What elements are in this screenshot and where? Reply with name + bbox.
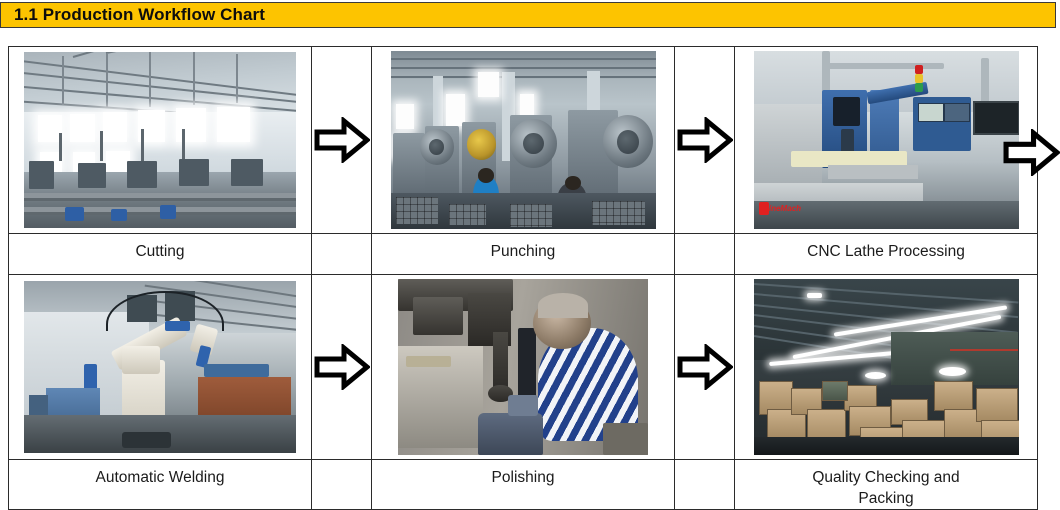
right-block-arrow-icon-4 — [677, 344, 733, 390]
photo-polishing — [398, 279, 648, 455]
right-block-arrow-icon-1 — [314, 117, 370, 163]
cell-label-punching: Punching — [372, 234, 675, 275]
cell-label-polishing: Polishing — [372, 460, 675, 510]
table-row-photos-top: FineMach — [9, 47, 1038, 234]
workflow-table: FineMach Cutting Punching — [8, 46, 1038, 510]
page-title: 1.1 Production Workflow Chart — [1, 5, 265, 25]
right-block-arrow-icon-2 — [677, 117, 733, 163]
right-block-arrow-icon-3 — [314, 344, 370, 390]
table-row-labels-bottom: Automatic Welding Polishing Quality Chec… — [9, 460, 1038, 510]
cell-arrow-3 — [312, 275, 372, 460]
cell-photo-cnc: FineMach — [735, 47, 1038, 234]
cell-label-quality: Quality Checking and Packing — [735, 460, 1038, 510]
cell-photo-polishing — [372, 275, 675, 460]
right-block-arrow-icon-5 — [1003, 129, 1060, 176]
cell-label-welding: Automatic Welding — [9, 460, 312, 510]
photo-quality-checking-packing — [754, 279, 1019, 455]
photo-cutting — [24, 52, 296, 228]
photo-automatic-welding — [24, 281, 296, 453]
section-title-bar: 1.1 Production Workflow Chart — [0, 2, 1056, 28]
step-label-line-2: Packing — [858, 490, 913, 507]
cell-arrow-spacer-1 — [312, 234, 372, 275]
cell-photo-welding — [9, 275, 312, 460]
table-row-photos-bottom — [9, 275, 1038, 460]
step-label-polishing: Polishing — [492, 467, 555, 488]
cell-arrow-1 — [312, 47, 372, 234]
photo-punching — [391, 51, 656, 229]
cell-label-cnc: CNC Lathe Processing — [735, 234, 1038, 275]
step-label-cnc-lathe-processing: CNC Lathe Processing — [807, 241, 965, 262]
step-label-cutting: Cutting — [135, 241, 184, 262]
photo-cnc-lathe: FineMach — [754, 51, 1019, 229]
production-workflow-page: 1.1 Production Workflow Chart — [0, 0, 1060, 498]
step-label-quality-checking-and-packing: Quality Checking and Packing — [812, 467, 959, 509]
step-label-punching: Punching — [491, 241, 556, 262]
cell-photo-quality — [735, 275, 1038, 460]
table-row-labels-top: Cutting Punching CNC Lathe Processing — [9, 234, 1038, 275]
cell-arrow-spacer-2 — [675, 234, 735, 275]
step-label-line-1: Quality Checking and — [812, 469, 959, 486]
cell-arrow-spacer-4 — [675, 460, 735, 510]
cell-arrow-2 — [675, 47, 735, 234]
step-label-automatic-welding: Automatic Welding — [96, 467, 225, 488]
cell-photo-cutting — [9, 47, 312, 234]
cell-photo-punching — [372, 47, 675, 234]
cell-arrow-4 — [675, 275, 735, 460]
cell-label-cutting: Cutting — [9, 234, 312, 275]
cell-arrow-spacer-3 — [312, 460, 372, 510]
